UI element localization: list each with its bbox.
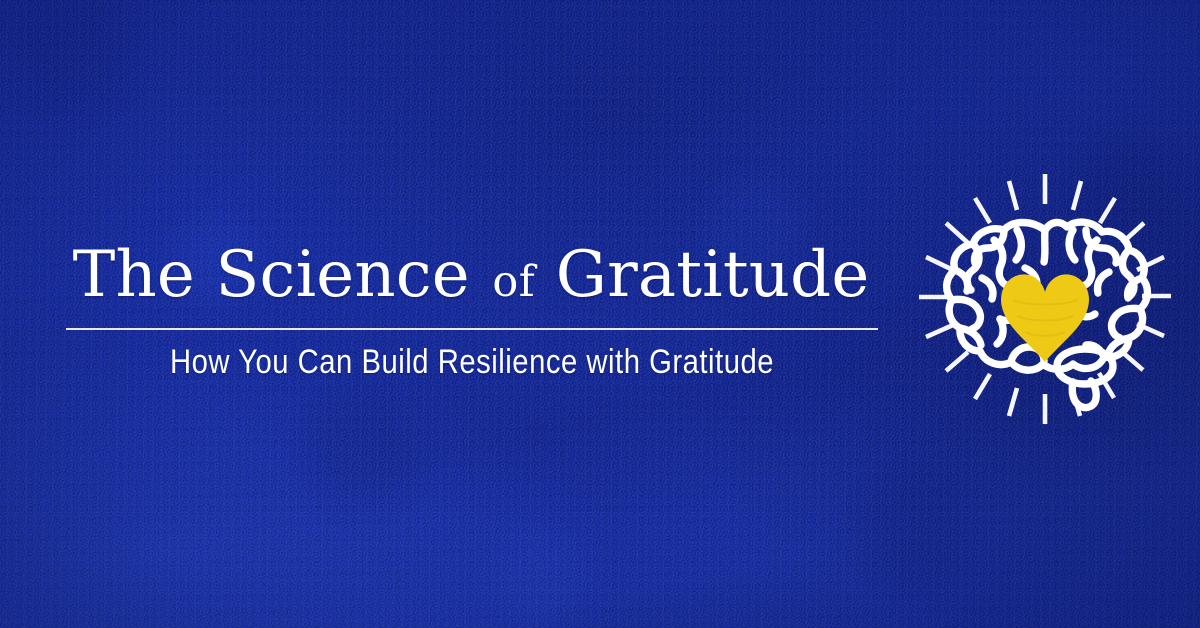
ray-icon-wnw xyxy=(926,257,953,270)
gratitude-banner: The Science of Gratitude How You Can Bui… xyxy=(0,0,1200,628)
brain-fold-center xyxy=(1044,230,1045,262)
title-part-one: The Science xyxy=(73,238,472,312)
title-connector: of xyxy=(492,257,535,307)
brain-fold-l3 xyxy=(955,270,968,291)
ray-icon-ssw xyxy=(1009,388,1017,416)
brain-fold-r6 xyxy=(1083,240,1097,286)
brain-fold-r9 xyxy=(1097,272,1109,293)
brain-fold-l10 xyxy=(997,319,1003,344)
ray-icon-nnw2 xyxy=(1009,181,1017,210)
ray-icon-ne xyxy=(1100,198,1115,223)
brain-fold-r7 xyxy=(1069,230,1075,260)
page-title: The Science of Gratitude xyxy=(66,238,878,319)
brain-fold-l7 xyxy=(1016,230,1021,260)
title-divider xyxy=(66,328,878,330)
title-part-two: Gratitude xyxy=(556,238,872,312)
ray-icon-nw xyxy=(946,223,968,243)
brain-with-heart-icon xyxy=(905,160,1185,440)
ray-icon-sw xyxy=(975,374,990,399)
brain-fold-l12 xyxy=(982,278,993,299)
ray-icon-nnw xyxy=(975,198,990,223)
brain-fold-l6 xyxy=(994,240,1008,286)
ray-icon-w-lower xyxy=(926,325,953,337)
page-subtitle: How You Can Build Resilience with Gratit… xyxy=(123,342,821,382)
ray-icon-wsw xyxy=(946,352,968,371)
ray-icon-nne xyxy=(1073,181,1081,210)
text-block: The Science of Gratitude How You Can Bui… xyxy=(66,238,878,382)
